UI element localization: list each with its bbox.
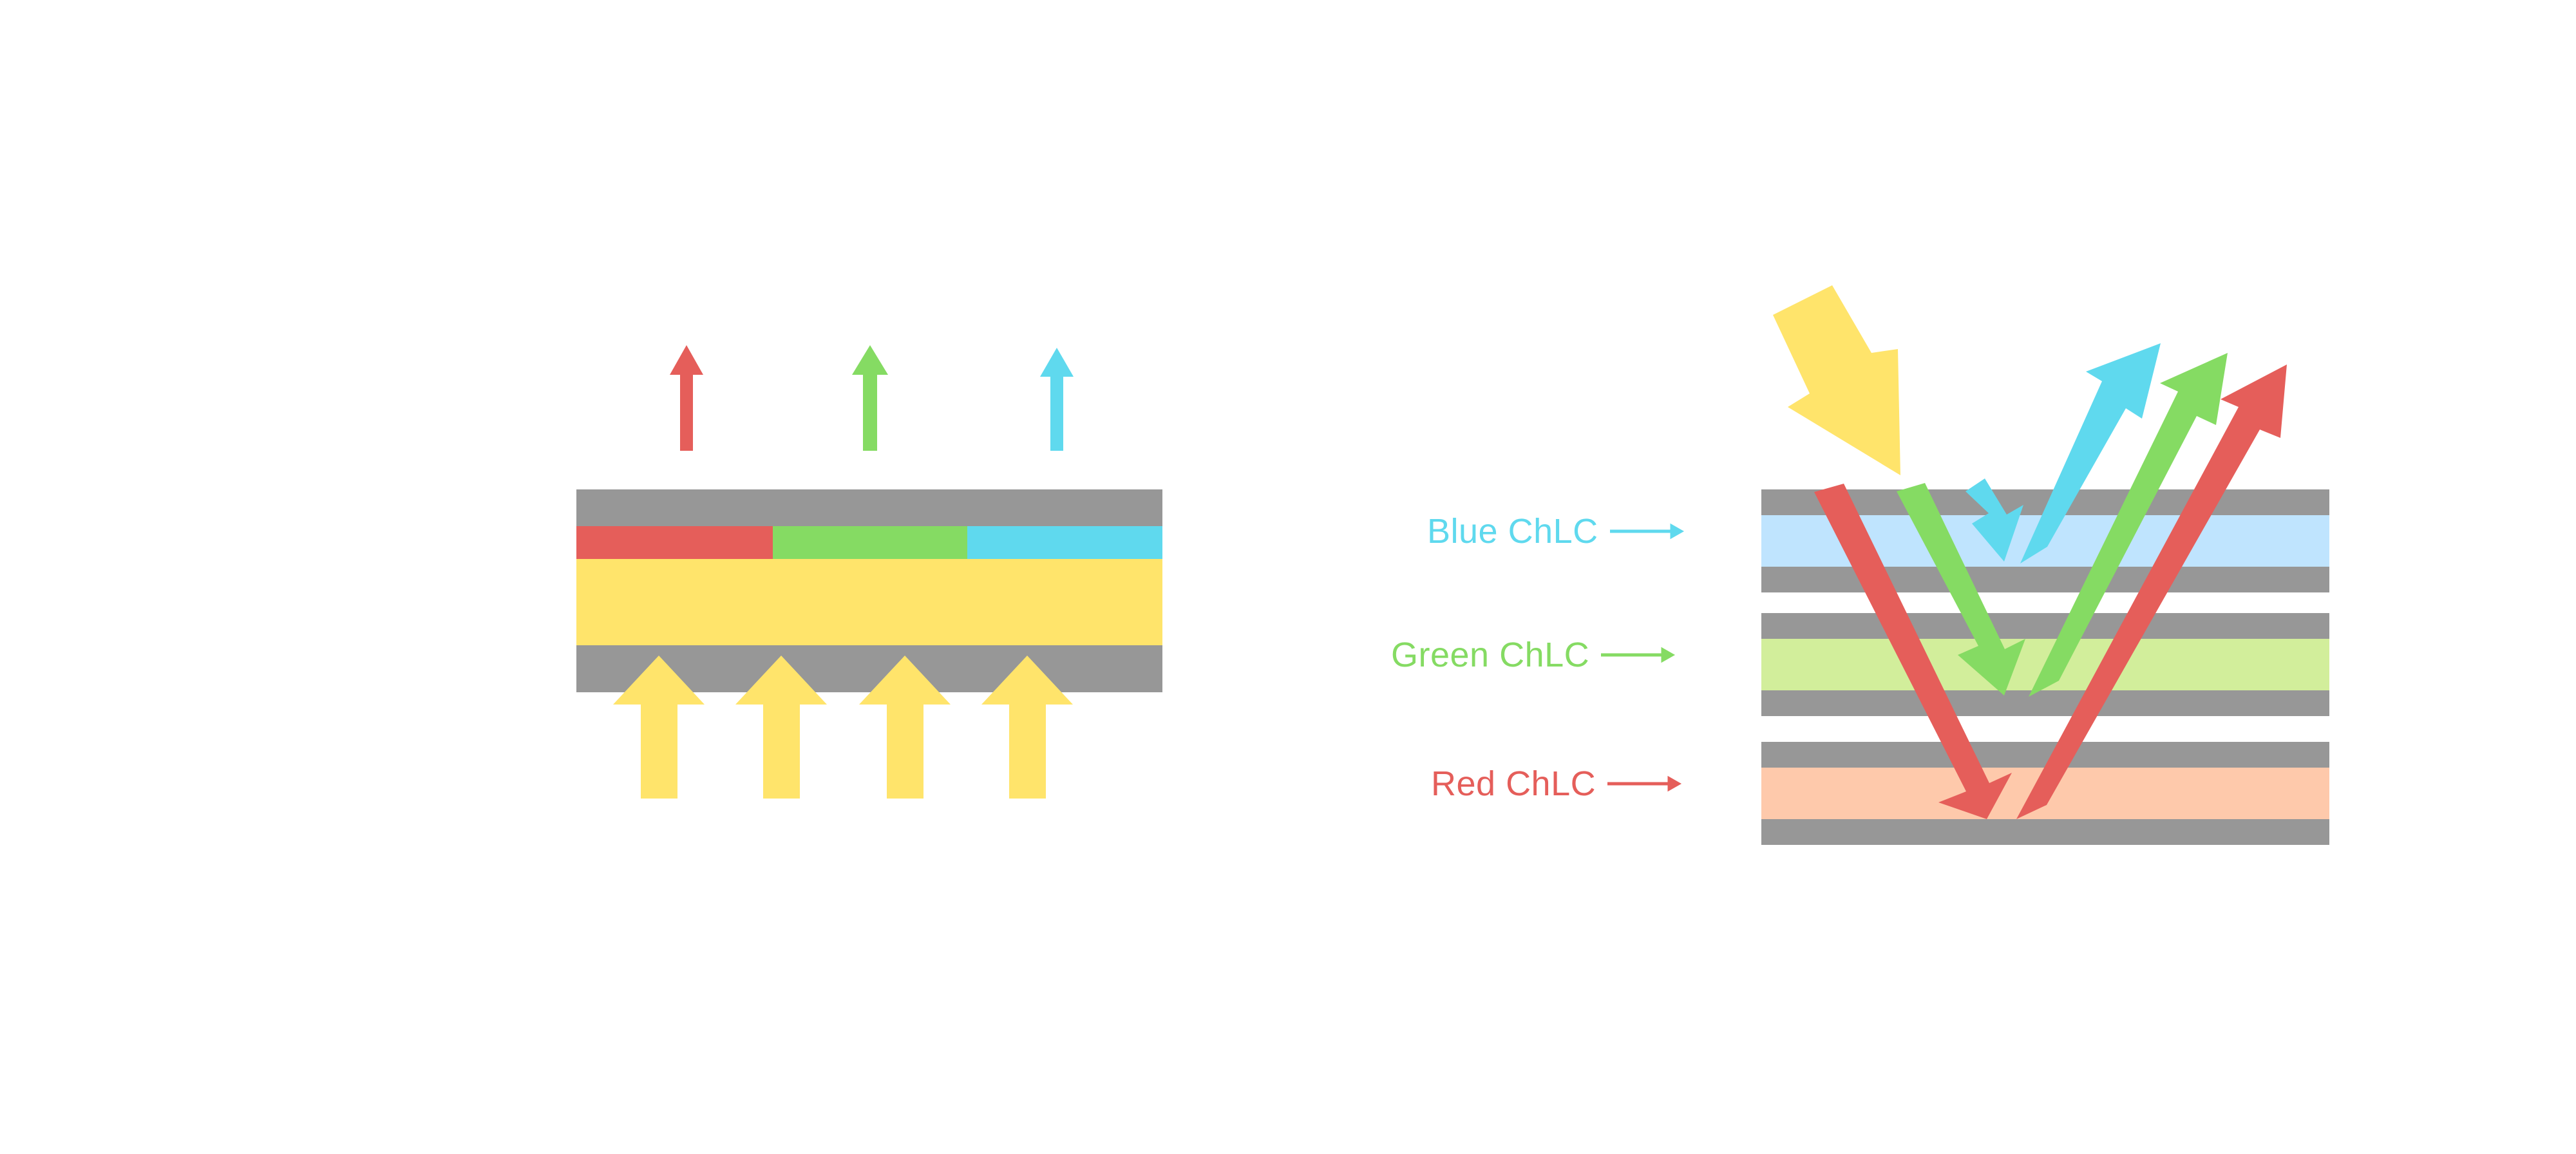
right-panel-reflective-stack: Blue ChLC Green ChLC Red ChLC — [0, 0, 2576, 1154]
red-cell-bottom-electrode — [1761, 819, 2329, 845]
label-row-blue-chlc: Blue ChLC — [1427, 509, 1694, 554]
diagram-canvas: Blue ChLC Green ChLC Red ChLC — [0, 0, 2576, 1154]
green-cell-top-electrode — [1761, 613, 2329, 639]
red-chlc-layer — [1761, 768, 2329, 819]
green-label-arrow-icon — [1601, 645, 1685, 665]
label-green-chlc: Green ChLC — [1391, 638, 1589, 672]
blue-label-arrow-icon — [1610, 522, 1694, 541]
blue-chlc-layer — [1761, 515, 2329, 567]
blue-cell-top-electrode — [1761, 489, 2329, 515]
blue-cell-bottom-electrode — [1761, 567, 2329, 592]
label-row-green-chlc: Green ChLC — [1391, 632, 1685, 677]
red-label-arrow-icon — [1607, 774, 1691, 793]
label-red-chlc: Red ChLC — [1431, 766, 1596, 801]
red-cell-top-electrode — [1761, 742, 2329, 768]
green-chlc-layer — [1761, 639, 2329, 690]
label-row-red-chlc: Red ChLC — [1431, 761, 1691, 806]
label-blue-chlc: Blue ChLC — [1427, 514, 1598, 549]
green-cell-bottom-electrode — [1761, 690, 2329, 716]
